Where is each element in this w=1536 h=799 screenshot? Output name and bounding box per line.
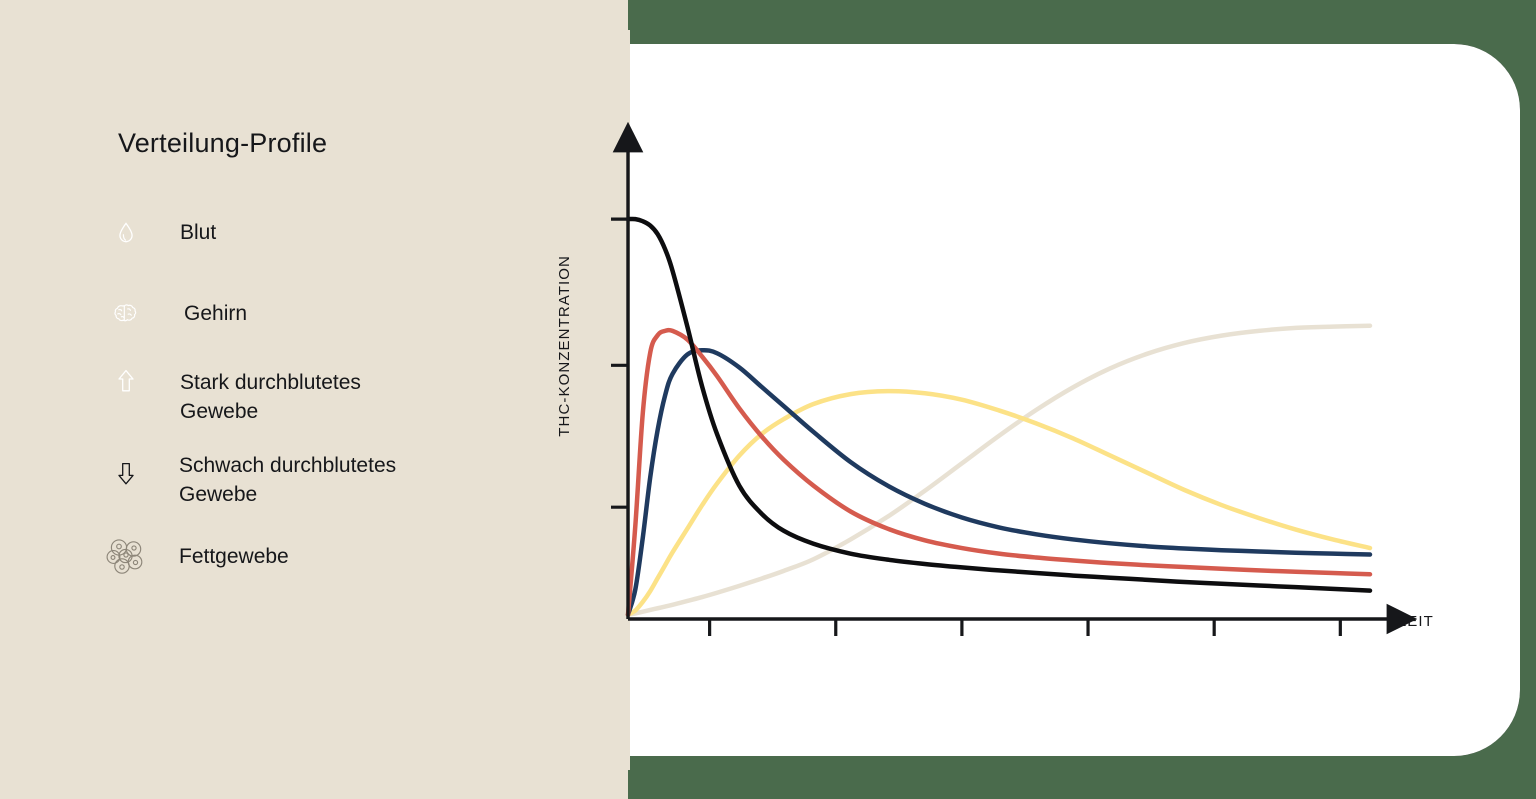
brain-icon-badge <box>100 288 151 339</box>
legend-item-fettgewebe[interactable]: Fettgewebe <box>100 530 289 581</box>
arrow-down-icon-badge <box>100 448 151 499</box>
arrow-up-icon-badge <box>100 355 151 406</box>
fat-cells-icon <box>103 533 149 579</box>
legend-item-blut[interactable]: Blut <box>100 207 216 258</box>
chart-series-group <box>628 219 1370 615</box>
thc-distribution-chart <box>508 44 1520 756</box>
legend-item-label: Stark durchblutetes GewebeStark durchblu… <box>180 355 361 426</box>
fat-cells-icon-badge <box>100 530 151 581</box>
droplet-icon <box>113 220 139 246</box>
legend-item-gehirn[interactable]: Gehirn <box>100 288 247 339</box>
page-title: Verteilung-Profile <box>118 128 327 159</box>
legend-item-label: Blut <box>180 207 216 247</box>
legend-item-stark-durchblutetes-gewebe[interactable]: Stark durchblutetes GewebeStark durchblu… <box>100 355 361 426</box>
brain-icon <box>111 299 141 329</box>
arrow-up-icon <box>115 368 137 394</box>
arrow-down-icon <box>115 461 137 487</box>
legend-item-label: Fettgewebe <box>179 530 289 571</box>
series-line-schwach-durchblutetes-gewebe <box>628 391 1370 615</box>
legend-item-schwach-durchblutetes-gewebe[interactable]: Schwach durchblutetes Gewebe <box>100 448 396 509</box>
y-axis-label: THC-KONZENTRATION <box>556 255 573 437</box>
legend-item-label: Schwach durchblutetes Gewebe <box>179 448 396 509</box>
droplet-icon-badge <box>100 207 151 258</box>
legend-item-label: Gehirn <box>184 288 247 328</box>
x-axis-label: ZEIT <box>1397 613 1434 630</box>
